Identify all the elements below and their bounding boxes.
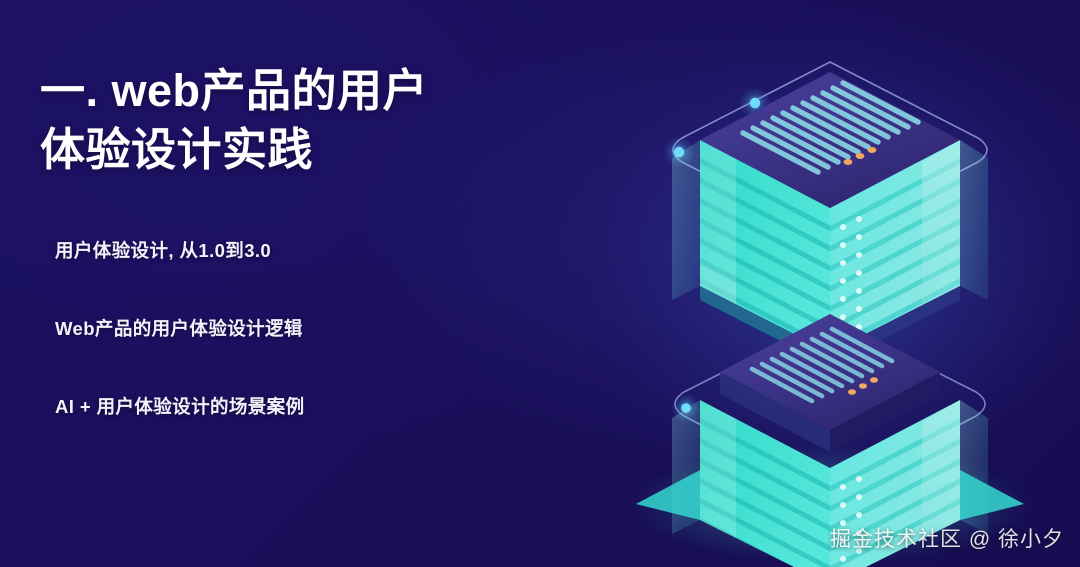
list-item: AI + 用户体验设计的场景案例 bbox=[55, 393, 560, 419]
connector-node-icon bbox=[750, 98, 760, 108]
watermark: 掘金技术社区 @ 徐小夕 bbox=[830, 523, 1064, 553]
text-block: 一. web产品的用户 体验设计实践 用户体验设计, 从1.0到3.0 Web产… bbox=[40, 62, 560, 419]
list-item: Web产品的用户体验设计逻辑 bbox=[55, 315, 560, 341]
page-title: 一. web产品的用户 体验设计实践 bbox=[40, 62, 560, 179]
slide-canvas: 一. web产品的用户 体验设计实践 用户体验设计, 从1.0到3.0 Web产… bbox=[0, 0, 1080, 567]
bullet-list: 用户体验设计, 从1.0到3.0 Web产品的用户体验设计逻辑 AI + 用户体… bbox=[40, 237, 560, 419]
isometric-server-illustration bbox=[560, 0, 1080, 567]
list-item: 用户体验设计, 从1.0到3.0 bbox=[55, 237, 560, 263]
